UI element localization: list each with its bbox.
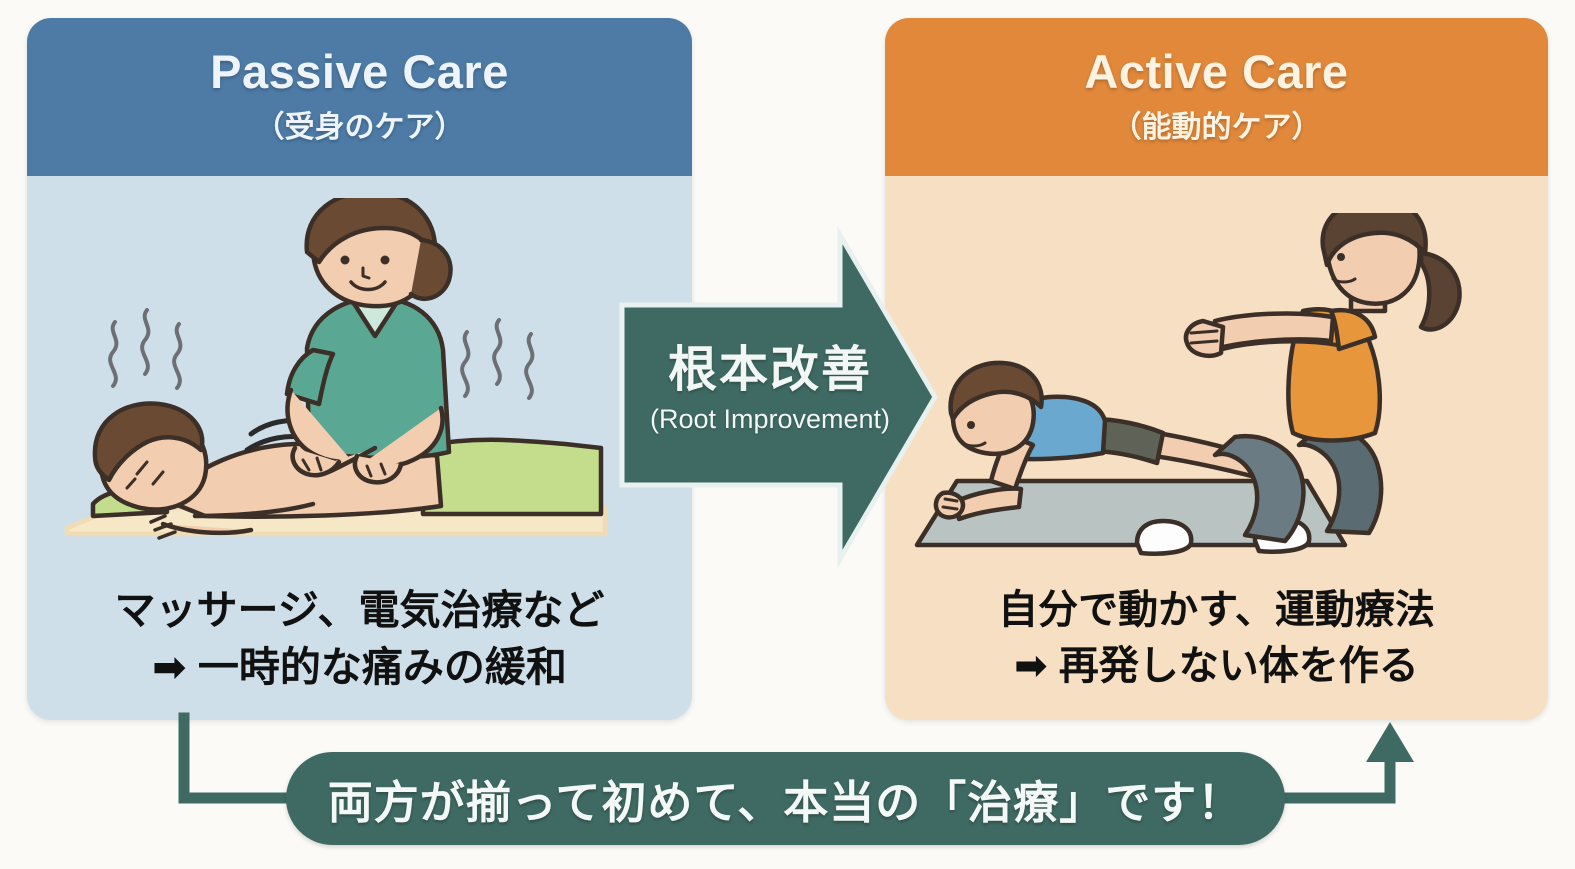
active-care-caption-line2: ➡ 再発しない体を作る [885, 640, 1548, 692]
active-care-caption: 自分で動かす、運動療法 ➡ 再発しない体を作る [885, 584, 1548, 692]
active-care-title-en: Active Care [1084, 48, 1348, 96]
root-improvement-arrow [604, 225, 949, 570]
active-care-panel: Active Care （能動的ケア） [885, 18, 1548, 720]
left-connector-line [184, 718, 300, 798]
active-care-caption-line1: 自分で動かす、運動療法 [998, 588, 1435, 632]
passive-care-caption-line2: ➡ 一時的な痛みの緩和 [27, 641, 692, 694]
bottom-banner: 両方が揃って初めて、本当の「治療」です！ [286, 752, 1285, 845]
massage-illustration [45, 198, 675, 570]
right-arrow-shape [622, 235, 935, 559]
passive-care-panel: Passive Care （受身のケア） [27, 18, 692, 720]
infographic-canvas: Passive Care （受身のケア） [0, 0, 1575, 869]
passive-care-caption: マッサージ、電気治療など ➡ 一時的な痛みの緩和 [27, 584, 692, 695]
active-care-title-jp: （能動的ケア） [1112, 102, 1322, 146]
active-care-header: Active Care （能動的ケア） [885, 18, 1548, 176]
passive-care-title-jp: （受身のケア） [255, 102, 465, 146]
passive-care-header: Passive Care （受身のケア） [27, 18, 692, 176]
exercise-illustration [905, 213, 1530, 573]
bottom-banner-text: 両方が揃って初めて、本当の「治療」です！ [328, 766, 1244, 831]
right-connector-arrowhead [1366, 722, 1414, 762]
passive-care-caption-line1: マッサージ、電気治療など [115, 587, 605, 633]
passive-care-title-en: Passive Care [210, 48, 509, 96]
